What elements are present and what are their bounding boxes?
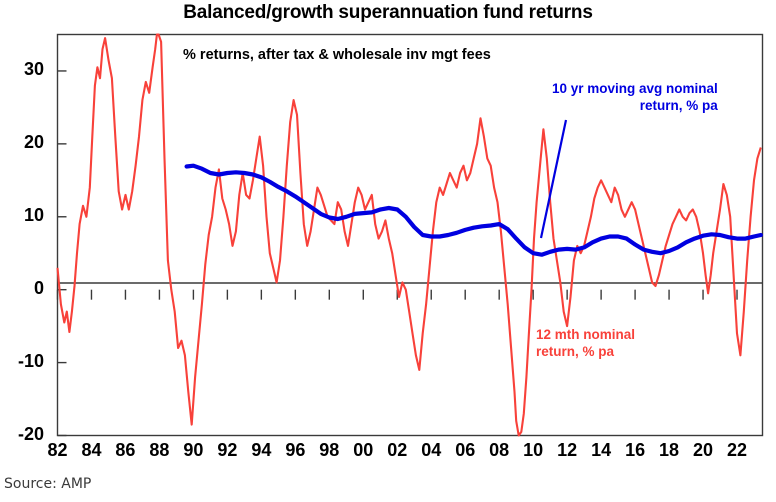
blue-series-label: 10 yr moving avg nominal return, % pa: [552, 80, 718, 114]
x-axis-tick-label: 08: [482, 440, 516, 461]
chart-title: Balanced/growth superannuation fund retu…: [0, 2, 776, 24]
x-axis-tick-label: 14: [584, 440, 618, 461]
x-axis-tick-label: 02: [380, 440, 414, 461]
y-axis-tick-label: -20: [0, 424, 44, 445]
x-axis-tick-label: 10: [516, 440, 550, 461]
plot-area: [0, 0, 776, 502]
red-series-label-line2: return, % pa: [536, 343, 635, 360]
red-series-label: 12 mth nominal return, % pa: [536, 326, 635, 360]
x-axis-tick-label: 98: [312, 440, 346, 461]
series-10yr-moving-average: [187, 166, 761, 255]
source-note: Source: AMP: [4, 476, 91, 492]
y-axis-tick-label: 10: [0, 205, 44, 226]
x-axis-tick-label: 18: [652, 440, 686, 461]
x-axis-tick-label: 96: [278, 440, 312, 461]
blue-series-label-line2: return, % pa: [552, 97, 718, 114]
x-axis-tick-label: 92: [210, 440, 244, 461]
chart-subtitle: % returns, after tax & wholesale inv mgt…: [183, 47, 491, 63]
x-axis-tick-label: 06: [448, 440, 482, 461]
y-axis-tick-label: 30: [0, 59, 44, 80]
y-axis-tick-label: 20: [0, 132, 44, 153]
x-axis-tick-label: 82: [41, 440, 75, 461]
x-axis-tick-label: 20: [686, 440, 720, 461]
x-axis-tick-label: 94: [244, 440, 278, 461]
x-axis-tick-label: 90: [176, 440, 210, 461]
x-axis-tick-label: 12: [550, 440, 584, 461]
y-axis-tick-label: -10: [0, 351, 44, 372]
x-axis-tick-label: 84: [74, 440, 108, 461]
x-axis-tick-label: 04: [414, 440, 448, 461]
chart-container: Balanced/growth superannuation fund retu…: [0, 0, 776, 502]
x-axis-tick-label: 86: [108, 440, 142, 461]
x-axis-tick-label: 22: [720, 440, 754, 461]
y-axis-tick-label: 0: [0, 278, 44, 299]
red-series-label-line1: 12 mth nominal: [536, 326, 635, 343]
x-axis-tick-label: 88: [142, 440, 176, 461]
x-axis-tick-label: 00: [346, 440, 380, 461]
y-tick-marks: [58, 71, 67, 436]
blue-series-label-line1: 10 yr moving avg nominal: [552, 80, 718, 97]
x-axis-tick-label: 16: [618, 440, 652, 461]
